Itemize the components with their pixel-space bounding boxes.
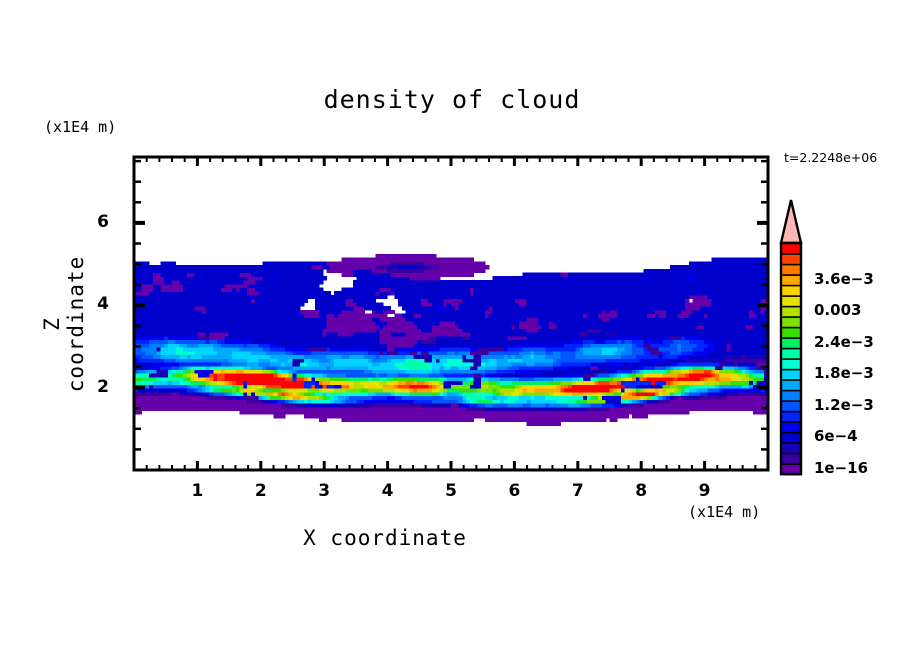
colorbar-tick-label: 3.6e−3 [814,270,874,288]
colorbar-tick-label: 1e−16 [814,459,868,477]
y-tick-label: 6 [86,212,120,232]
y-tick-label: 4 [86,294,120,314]
colorbar-tick-label: 1.2e−3 [814,396,874,414]
colorbar-tick-label: 0.003 [814,301,861,319]
colorbar-tick-label: 1.8e−3 [814,364,874,382]
x-tick-label: 4 [368,481,408,501]
x-tick-label: 9 [685,481,725,501]
x-tick-label: 2 [241,481,281,501]
colorbar [781,200,801,475]
x-tick-label: 6 [494,481,534,501]
colorbar-tick-label: 2.4e−3 [814,333,874,351]
x-tick-label: 3 [304,481,344,501]
contour-plot-canvas [0,0,904,654]
x-tick-label: 7 [558,481,598,501]
x-tick-label: 5 [431,481,471,501]
density-field [134,254,769,426]
y-tick-label: 2 [86,377,120,397]
x-tick-label: 8 [621,481,661,501]
x-tick-label: 1 [177,481,217,501]
colorbar-tick-label: 6e−4 [814,427,858,445]
